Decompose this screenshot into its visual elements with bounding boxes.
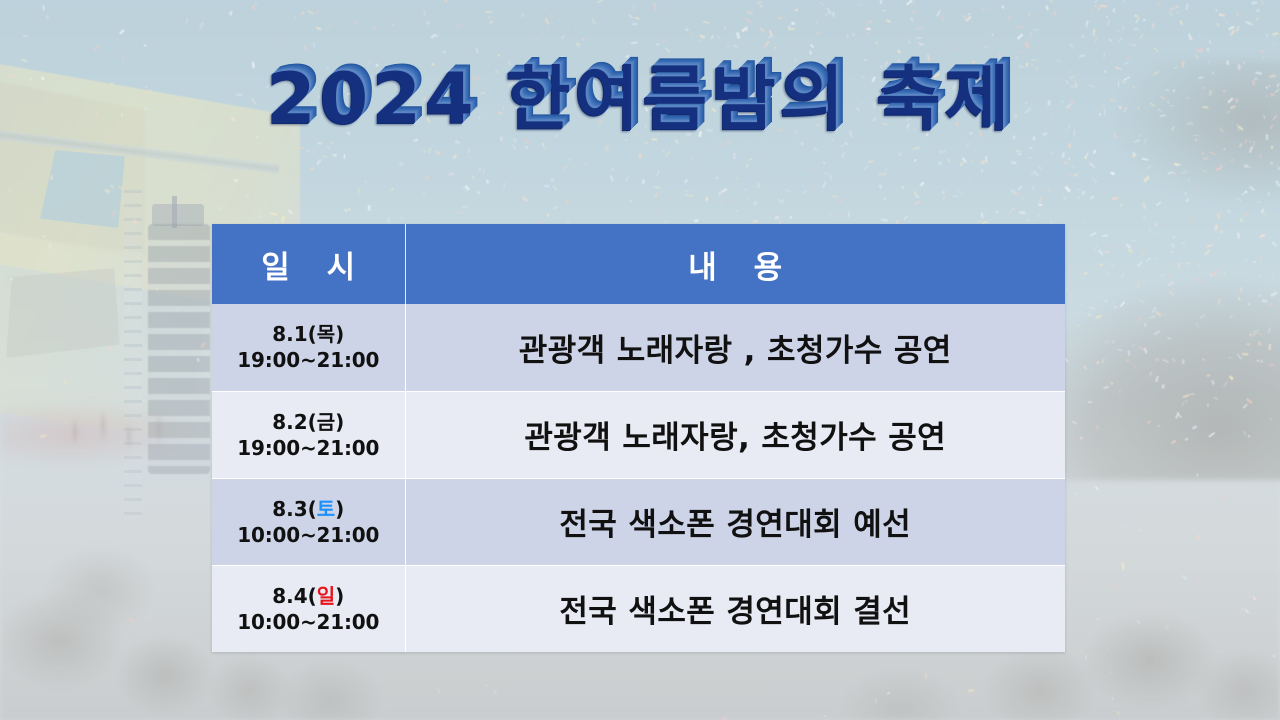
day-of-week-label: 목	[317, 322, 335, 346]
cell-content: 관광객 노래자랑 , 초청가수 공연	[405, 304, 1065, 391]
cell-content: 전국 색소폰 경연대회 결선	[405, 565, 1065, 652]
date-text: 8.1(목)	[218, 321, 399, 347]
cell-content: 관광객 노래자랑, 초청가수 공연	[405, 391, 1065, 478]
time-range-text: 10:00~21:00	[218, 609, 399, 635]
table-row: 8.3(토)10:00~21:00전국 색소폰 경연대회 예선	[212, 478, 1065, 565]
schedule-table-body: 8.1(목)19:00~21:00관광객 노래자랑 , 초청가수 공연8.2(금…	[212, 304, 1065, 652]
poster-title: 2024 한여름밤의 축제	[267, 62, 1013, 138]
schedule-table: 일 시 내 용 8.1(목)19:00~21:00관광객 노래자랑 , 초청가수…	[212, 224, 1065, 652]
cell-date: 8.3(토)10:00~21:00	[212, 478, 405, 565]
time-range-text: 10:00~21:00	[218, 522, 399, 548]
date-text: 8.2(금)	[218, 409, 399, 435]
column-header-content: 내 용	[405, 224, 1065, 304]
day-of-week-label: 금	[317, 410, 335, 434]
cell-date: 8.2(금)19:00~21:00	[212, 391, 405, 478]
poster-title-area: 2024 한여름밤의 축제	[0, 62, 1280, 138]
table-header-row: 일 시 내 용	[212, 224, 1065, 304]
table-row: 8.2(금)19:00~21:00관광객 노래자랑, 초청가수 공연	[212, 391, 1065, 478]
date-text: 8.4(일)	[218, 583, 399, 609]
day-of-week-label: 일	[317, 584, 335, 608]
time-range-text: 19:00~21:00	[218, 347, 399, 373]
day-of-week-label: 토	[317, 497, 335, 521]
cell-date: 8.4(일)10:00~21:00	[212, 565, 405, 652]
table-row: 8.1(목)19:00~21:00관광객 노래자랑 , 초청가수 공연	[212, 304, 1065, 391]
column-header-date: 일 시	[212, 224, 405, 304]
schedule-table-head: 일 시 내 용	[212, 224, 1065, 304]
date-text: 8.3(토)	[218, 496, 399, 522]
time-range-text: 19:00~21:00	[218, 435, 399, 461]
festival-poster: 2024 한여름밤의 축제 일 시 내 용 8.1(목)19:00~21:00관…	[0, 0, 1280, 720]
table-row: 8.4(일)10:00~21:00전국 색소폰 경연대회 결선	[212, 565, 1065, 652]
cell-content: 전국 색소폰 경연대회 예선	[405, 478, 1065, 565]
cell-date: 8.1(목)19:00~21:00	[212, 304, 405, 391]
